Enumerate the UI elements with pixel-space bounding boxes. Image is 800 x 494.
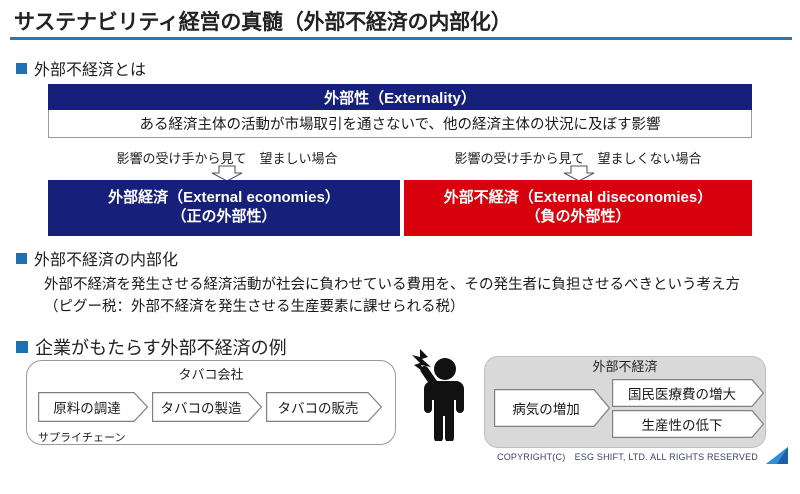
section-heading-label: 外部不経済とは	[34, 56, 146, 80]
slide-canvas: サステナビリティ経営の真髄（外部不経済の内部化） 外部不経済とは 外部性（Ext…	[0, 0, 800, 494]
supply-chain-step-1: タバコの製造	[152, 392, 262, 422]
section-heading-label: 外部不経済の内部化	[34, 246, 178, 270]
supply-chain-step-2: タバコの販売	[266, 392, 382, 422]
supply-chain-label: サプライチェーン	[38, 429, 125, 445]
section-heading-what-is-external-diseconomy: 外部不経済とは	[16, 56, 146, 80]
esg-shift-logo-icon	[764, 446, 790, 466]
internalization-body-text: 外部不経済を発生させる経済活動が社会に負わせている費用を、その発生者に負担させる…	[44, 274, 764, 319]
external-diseconomy-label: 外部不経済	[484, 356, 766, 375]
diseconomy-cause-label: 病気の増加	[494, 389, 610, 427]
section-heading-internalization: 外部不経済の内部化	[16, 246, 178, 270]
bullet-square-icon	[16, 341, 28, 353]
title-underline-rule	[10, 37, 792, 40]
result-box-positive-line1: 外部経済（External economies）	[108, 189, 340, 208]
supply-chain-step-label: タバコの製造	[152, 392, 262, 422]
copyright-text: COPYRIGHT(C) ESG SHIFT, LTD. ALL RIGHTS …	[497, 450, 758, 463]
supply-chain-step-label: 原料の調達	[38, 392, 148, 422]
bullet-square-icon	[16, 253, 27, 264]
diseconomy-effect-1: 生産性の低下	[612, 410, 764, 438]
page-title: サステナビリティ経営の真髄（外部不経済の内部化）	[14, 6, 512, 36]
result-box-external-diseconomies: 外部不経済（External diseconomies） （負の外部性）	[404, 180, 752, 236]
diseconomy-cause: 病気の増加	[494, 389, 610, 427]
bullet-square-icon	[16, 63, 27, 74]
section-heading-label: 企業がもたらす外部不経済の例	[35, 334, 287, 360]
smoking-person-icon	[404, 345, 476, 441]
result-box-negative-line1: 外部不経済（External diseconomies）	[444, 189, 712, 208]
externality-header-box: 外部性（Externality）	[48, 84, 752, 110]
tobacco-company-label: タバコ会社	[26, 364, 396, 383]
externality-description-box: ある経済主体の活動が市場取引を通さないで、他の経済主体の状況に及ぼす影響	[48, 110, 752, 138]
result-box-external-economies: 外部経済（External economies） （正の外部性）	[48, 180, 400, 236]
diseconomy-effect-label: 国民医療費の増大	[612, 379, 764, 407]
diseconomy-effect-label: 生産性の低下	[612, 410, 764, 438]
supply-chain-step-0: 原料の調達	[38, 392, 148, 422]
diseconomy-effect-0: 国民医療費の増大	[612, 379, 764, 407]
supply-chain-step-label: タバコの販売	[266, 392, 382, 422]
section-heading-example: 企業がもたらす外部不経済の例	[16, 334, 287, 360]
result-box-negative-line2: （負の外部性）	[525, 208, 630, 227]
result-box-positive-line2: （正の外部性）	[171, 208, 276, 227]
